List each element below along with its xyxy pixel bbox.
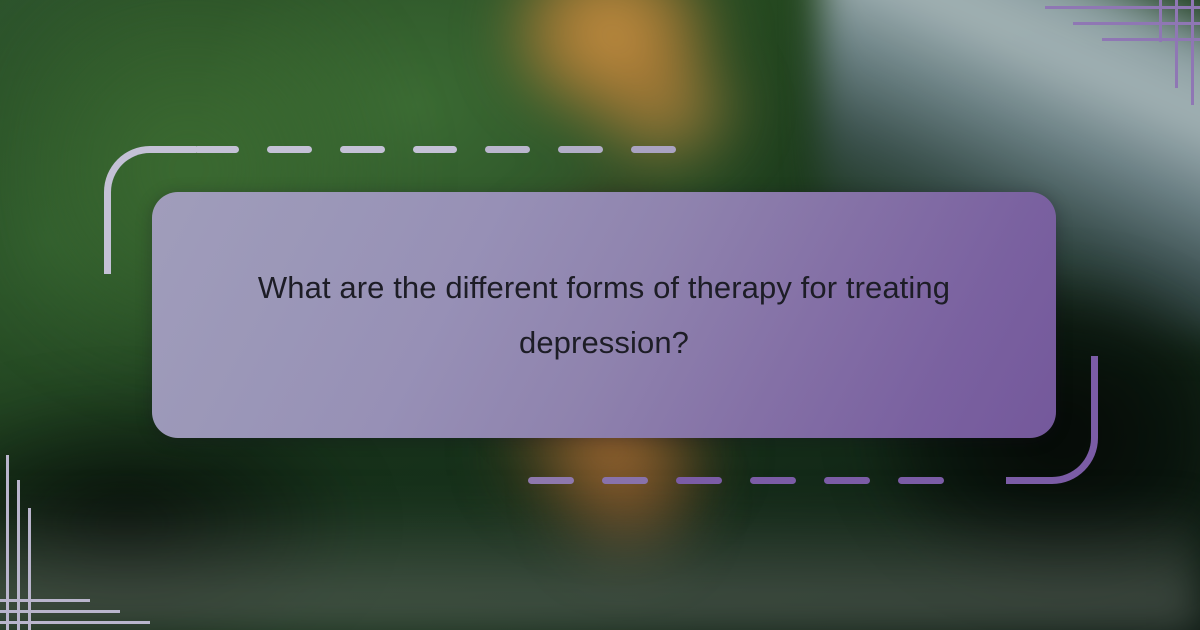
decor-dash: [750, 477, 796, 484]
decor-bracket-line: [1191, 0, 1194, 105]
decor-dash: [602, 477, 648, 484]
decor-bracket-line: [1159, 0, 1162, 42]
decor-dash: [485, 146, 530, 153]
decor-bracket-line: [28, 508, 31, 630]
decor-dash: [558, 146, 603, 153]
decor-bracket-line: [0, 621, 150, 624]
question-card: What are the different forms of therapy …: [152, 192, 1056, 438]
poster-canvas: What are the different forms of therapy …: [0, 0, 1200, 630]
decor-dash: [413, 146, 458, 153]
decor-bracket-line: [0, 599, 90, 602]
decor-corner-bracket-bottom-left: [0, 450, 160, 630]
decor-dash: [267, 146, 312, 153]
decor-dash: [676, 477, 722, 484]
decor-corner-bracket-top-right: [1040, 0, 1200, 110]
question-text: What are the different forms of therapy …: [224, 260, 984, 370]
decor-dash: [340, 146, 385, 153]
decor-dash: [824, 477, 870, 484]
decor-bracket-line: [1102, 38, 1200, 41]
decor-bracket-line: [17, 480, 20, 630]
decor-dash: [631, 146, 676, 153]
decor-dash: [898, 477, 944, 484]
decor-dash-row-bottom: [528, 477, 1010, 484]
background-bottom-haze: [0, 500, 1200, 630]
decor-bracket-line: [1175, 0, 1178, 88]
decor-dash-row-top: [194, 146, 676, 153]
decor-bracket-line: [1073, 22, 1200, 25]
decor-dash: [528, 477, 574, 484]
decor-bracket-line: [6, 455, 9, 630]
decor-dash: [194, 146, 239, 153]
